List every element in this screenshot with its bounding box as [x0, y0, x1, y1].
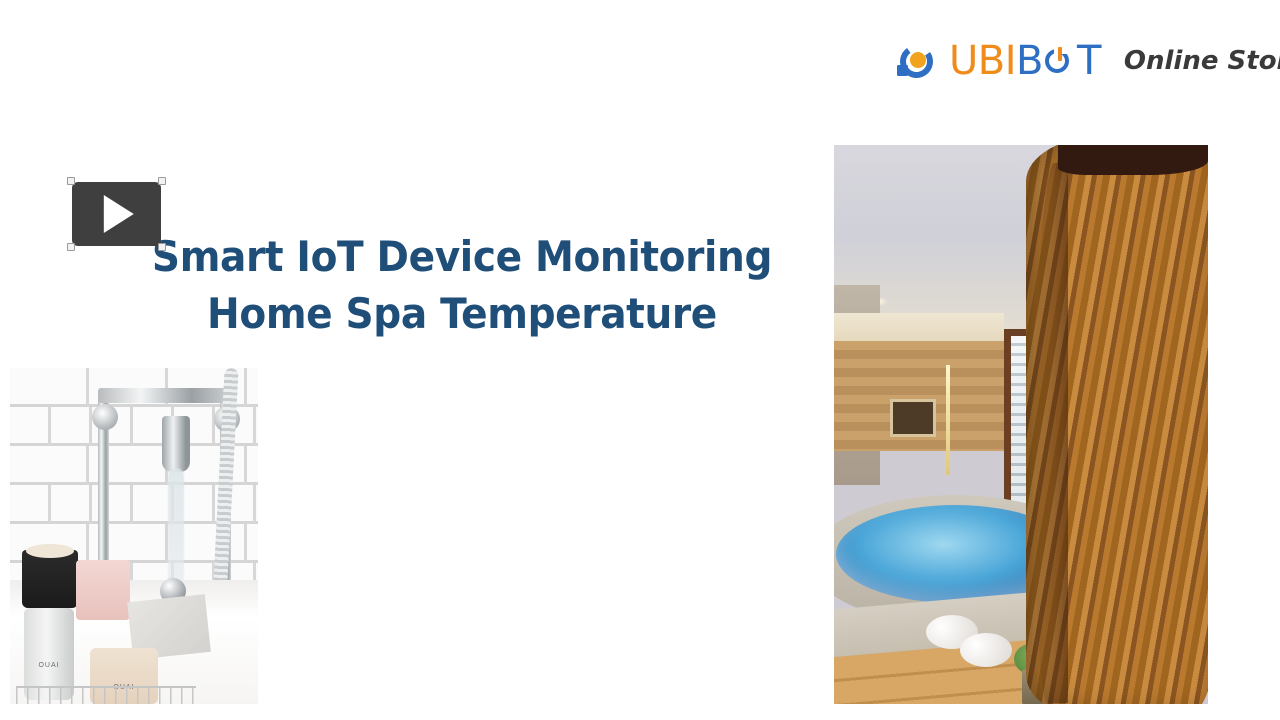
power-symbol-o-icon	[1045, 46, 1075, 76]
pink-jar	[76, 560, 130, 620]
selection-handle-bottom-right[interactable]	[158, 243, 166, 251]
brand-tagline: Online Store	[1124, 46, 1280, 76]
selection-handle-top-right[interactable]	[158, 177, 166, 185]
video-player-placeholder[interactable]	[68, 178, 165, 250]
ouai-bottle-label: OUAI	[24, 662, 74, 669]
spa-vertical-light-strip	[946, 365, 950, 475]
wordmark-t: T	[1077, 41, 1101, 81]
wire-shelf-rack	[16, 686, 196, 704]
ubibot-circle-logo-icon	[893, 38, 940, 85]
brand-logo: UBIBT Online Store	[893, 36, 1253, 86]
brand-wordmark: UBIBT	[949, 41, 1101, 81]
spa-jacuzzi-photo	[834, 145, 1208, 704]
wood-slab-dark-top	[1058, 145, 1208, 175]
rolled-towel	[960, 633, 1012, 667]
spa-wall-niche	[890, 399, 936, 437]
page-title: Smart IoT Device Monitoring Home Spa Tem…	[135, 228, 790, 342]
faucet-handle-cold-icon	[92, 404, 118, 430]
wordmark-b: B	[1016, 41, 1043, 81]
selection-handle-bottom-left[interactable]	[67, 243, 75, 251]
selection-handle-top-left[interactable]	[67, 177, 75, 185]
bathroom-faucet-products-photo: OUAI OUAI	[10, 368, 258, 704]
black-candle	[22, 550, 78, 608]
video-frame[interactable]	[72, 182, 161, 246]
faucet-crossbar	[98, 388, 232, 403]
wordmark-ubi: UBI	[949, 41, 1016, 81]
faucet-spout	[162, 416, 190, 472]
play-triangle-icon[interactable]	[103, 195, 133, 233]
